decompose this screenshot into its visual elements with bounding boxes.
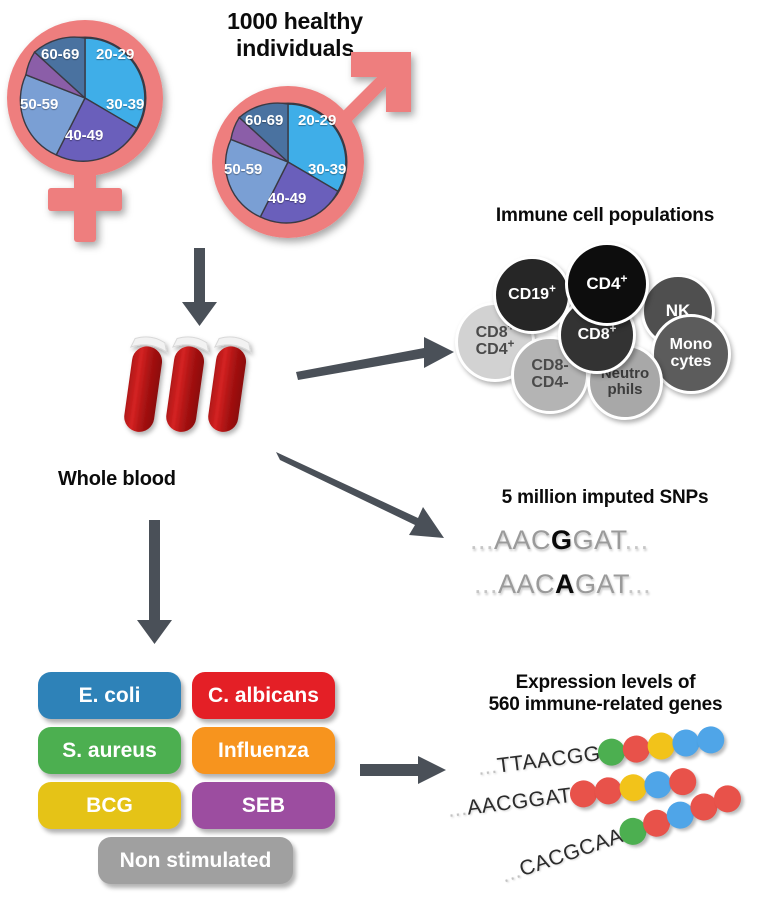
immune-cell-label: CD4+ xyxy=(586,275,627,293)
expression-title: Expression levels of 560 immune-related … xyxy=(440,672,771,717)
snp-row: ...AACAGAT... xyxy=(474,569,651,600)
immune-cell-monocytes: Monocytes xyxy=(651,314,731,394)
whole-blood-label: Whole blood xyxy=(58,468,278,492)
stimulus-label: SEB xyxy=(242,794,285,818)
gene-bead xyxy=(622,734,652,764)
snp-variant: A xyxy=(555,569,575,599)
gene-bead xyxy=(667,767,697,797)
immune-cell-label: CD8-CD4- xyxy=(531,358,568,391)
blood-tube-1 xyxy=(119,335,168,435)
figure-canvas: 1000 healthy individuals xyxy=(0,0,771,922)
stimulus-seb[interactable]: SEB xyxy=(192,782,335,829)
arrow-blood-to-immune xyxy=(296,330,456,380)
snp-left: AAC xyxy=(498,569,555,599)
gene-bead xyxy=(647,731,677,761)
snps-title: 5 million imputed SNPs xyxy=(440,487,770,509)
blood-tube-3 xyxy=(203,335,252,435)
snp-right: GAT xyxy=(573,525,625,555)
snp-suffix: ... xyxy=(625,525,649,555)
snp-left: AAC xyxy=(494,525,551,555)
gene-expression-strands: ...TTAACGG ...AACGGAT ...CACGCAA xyxy=(450,745,771,915)
stimulus-non-stimulated[interactable]: Non stimulated xyxy=(98,837,293,884)
stimulus-influenza[interactable]: Influenza xyxy=(192,727,335,774)
immune-cell-cd4: CD4+ xyxy=(565,242,649,326)
snp-right: GAT xyxy=(575,569,627,599)
gene-sequence: ...CACGCAA xyxy=(498,824,626,888)
cohort-symbol-female: 20-29 30-39 40-49 50-59 60-69 xyxy=(8,10,193,245)
gene-bead xyxy=(696,725,726,755)
gene-bases: CACGCAA xyxy=(516,824,626,881)
arrow-cohort-to-blood xyxy=(178,248,224,328)
immune-cell-label: CD8+ xyxy=(578,327,617,344)
arrow-blood-to-stimuli xyxy=(134,520,180,646)
gene-sequence: ...AACGGAT xyxy=(447,783,574,822)
gene-bead xyxy=(643,770,673,800)
gene-bases: TTAACGG xyxy=(496,742,602,778)
gene-bases: AACGGAT xyxy=(466,783,573,819)
stimulus-s-aureus[interactable]: S. aureus xyxy=(38,727,181,774)
stimulus-e-coli[interactable]: E. coli xyxy=(38,672,181,719)
stimulus-c-albicans[interactable]: C. albicans xyxy=(192,672,335,719)
age-pie-female xyxy=(20,37,144,161)
arrow-stimuli-to-genes xyxy=(360,752,450,792)
immune-cell-label: CD19+ xyxy=(508,287,556,304)
gene-sequence: ...TTAACGG xyxy=(477,742,602,781)
immune-cell-cluster: CD19+ CD4+ NK CD8+CD4+ CD8+ Monocytes CD… xyxy=(455,240,765,420)
gene-bead xyxy=(593,776,623,806)
snp-row: ...AACGGAT... xyxy=(470,525,649,556)
stimulus-label: C. albicans xyxy=(208,684,319,708)
immune-cell-label: CD8+CD4+ xyxy=(476,325,515,358)
whole-blood-tubes xyxy=(118,330,268,465)
stimulation-conditions: E. coli C. albicans S. aureus Influenza … xyxy=(38,672,338,894)
snp-variant: G xyxy=(551,525,573,555)
snp-sequences: ...AACGGAT... ...AACAGAT... xyxy=(470,525,760,615)
gene-bead xyxy=(671,728,701,758)
snp-prefix: ... xyxy=(474,569,498,599)
gene-bead xyxy=(618,773,648,803)
age-pie-male xyxy=(226,103,346,223)
stimulus-label: BCG xyxy=(86,794,133,818)
immune-cell-label: Monocytes xyxy=(670,337,713,370)
arrow-blood-to-snps xyxy=(276,452,456,544)
blood-tube-2 xyxy=(161,335,210,435)
stimulus-label: Non stimulated xyxy=(120,849,272,873)
stimulus-label: S. aureus xyxy=(62,739,157,763)
immune-populations-title: Immune cell populations xyxy=(440,205,770,227)
stimulus-bcg[interactable]: BCG xyxy=(38,782,181,829)
cohort-symbol-male: 20-29 30-39 40-49 50-59 60-69 xyxy=(200,40,425,255)
stimulus-label: Influenza xyxy=(218,739,309,763)
stimulus-label: E. coli xyxy=(79,684,141,708)
snp-prefix: ... xyxy=(470,525,494,555)
snp-suffix: ... xyxy=(627,569,651,599)
